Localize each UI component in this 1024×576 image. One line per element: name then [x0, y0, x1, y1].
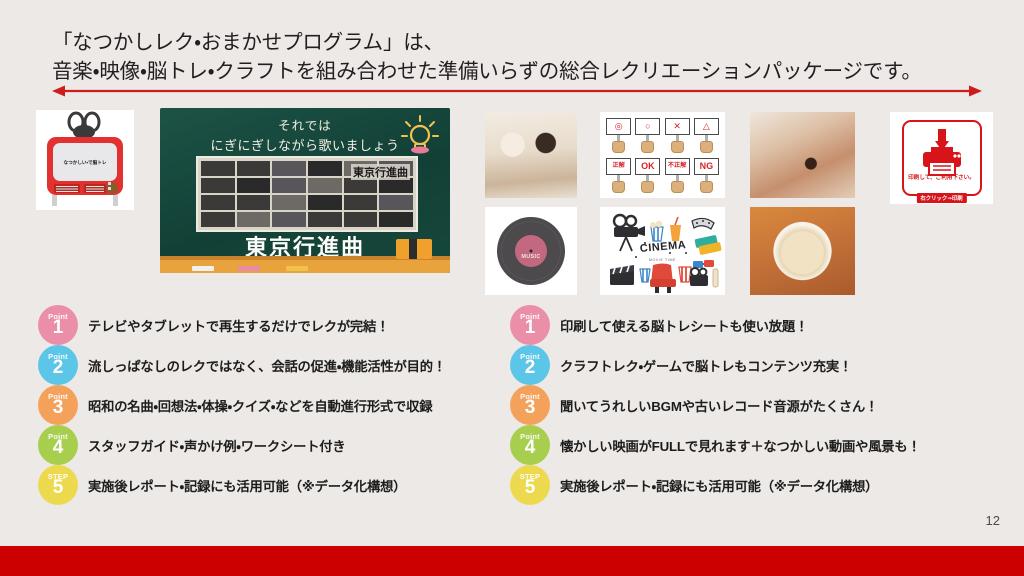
point-badge: Point 1 [38, 305, 78, 345]
points-column-left: Point 1 テレビやタブレットで再生するだけでレクが完結！ Point 2 … [38, 305, 508, 505]
footer-bar [0, 546, 1024, 576]
soda-cup-icon [670, 217, 681, 241]
point-text: 実施後レポート・記録にも活用可能（※データ化構想） [88, 476, 406, 495]
popcorn-icon [650, 221, 663, 241]
printer-caption-1: 印刷して、ご利用下さい。 [908, 173, 975, 181]
3d-glasses-icon [693, 260, 714, 268]
quiz-sign-text: 不正解 [665, 158, 690, 175]
hand-icon [641, 141, 654, 153]
printer-icon [914, 127, 970, 179]
printer-caption-2: 右クリック⇒印刷 [916, 193, 966, 203]
hand-icon [612, 181, 625, 193]
points-section: Point 1 テレビやタブレットで再生するだけでレクが完結！ Point 2 … [0, 305, 1024, 505]
hand-icon [700, 181, 713, 193]
point-badge: Point 4 [38, 425, 78, 465]
quiz-card: OK [635, 158, 660, 193]
blackboard-image: それでは にぎにぎしながら歌いましょう [160, 108, 450, 273]
point-badge-caption: Point [520, 433, 540, 441]
point-badge-caption: Point [520, 353, 540, 361]
chalk-stick-yellow [286, 266, 308, 271]
point-text: 聞いてうれしいBGMや古いレコード音源がたくさん！ [560, 396, 878, 415]
point-badge: Point 4 [510, 425, 550, 465]
quiz-sign-text: ✕ [665, 118, 690, 135]
retro-tv-image: なつかしい・で脳トレ [36, 110, 134, 210]
point-badge-number: 2 [53, 358, 64, 377]
hand-icon [700, 141, 713, 153]
photo-fill [750, 207, 855, 295]
popcorn-box-icon [679, 267, 691, 282]
points-column-right: Point 1 印刷して使える脳トレシートも使い放題！ Point 2 クラフト… [510, 305, 980, 505]
quiz-sign-text: NG [694, 158, 719, 175]
caregiver-and-senior-photo [485, 112, 577, 198]
quiz-card: NG [694, 158, 719, 193]
point-badge: STEP 5 [38, 465, 78, 505]
point-item: Point 3 聞いてうれしいBGMや古いレコード音源がたくさん！ [510, 385, 980, 425]
point-badge-caption: STEP [520, 473, 540, 481]
point-badge: Point 2 [510, 345, 550, 385]
point-text: クラフトレク・ゲームで脳トレもコンテンツ充実！ [560, 356, 852, 375]
record-label-text: MUSIC [521, 254, 540, 260]
pancake-plate-photo [750, 207, 855, 295]
point-item: Point 2 クラフトレク・ゲームで脳トレもコンテンツ充実！ [510, 345, 980, 385]
film-strip-icon [692, 218, 714, 229]
quiz-sign-text: ○ [635, 118, 660, 135]
cup-icon [640, 269, 650, 282]
quiz-row-words: 正解 OK 不正解 NG [604, 158, 721, 193]
hand-icon [671, 141, 684, 153]
point-badge-number: 1 [525, 318, 536, 337]
point-badge-caption: Point [48, 433, 68, 441]
point-text: 実施後レポート・記録にも活用可能（※データ化構想） [560, 476, 878, 495]
remote-icon [713, 269, 718, 287]
quiz-card: ✕ [665, 118, 690, 153]
title-line-2: 音楽・映像・脳トレ・クラフトを組み合わせた準備いらずの総合レクリエーションパッケ… [52, 57, 982, 86]
quiz-card: 不正解 [665, 158, 690, 193]
point-badge: Point 3 [38, 385, 78, 425]
hands-craft-photo [750, 112, 855, 198]
page-title: 「なつかしレク・おまかせプログラム」は、 音楽・映像・脳トレ・クラフトを組み合わ… [52, 28, 982, 86]
media-strip: なつかしい・で脳トレ それでは にぎにぎしながら歌いましょう [0, 105, 1024, 300]
chalk-stick-pink [238, 266, 260, 271]
hand-icon [671, 181, 684, 193]
slide-canvas: 「なつかしレク・おまかせプログラム」は、 音楽・映像・脳トレ・クラフトを組み合わ… [0, 0, 1024, 576]
quiz-card: △ [694, 118, 719, 153]
chalk-stick-white [192, 266, 214, 271]
ticket-icon [694, 235, 721, 255]
point-text: スタッフガイド・声かけ例・ワークシート付き [88, 436, 345, 455]
quiz-row-symbols: ◎ ○ ✕ △ [604, 118, 721, 153]
point-badge: STEP 5 [510, 465, 550, 505]
quiz-sign-text: ◎ [606, 118, 631, 135]
point-badge-number: 3 [53, 398, 64, 417]
song-poster: 東京行進曲 [196, 156, 418, 232]
video-camera-icon [690, 268, 708, 286]
quiz-card: ○ [635, 118, 660, 153]
hand-icon [641, 181, 654, 193]
point-text: テレビやタブレットで再生するだけでレクが完結！ [88, 316, 389, 335]
cinema-seat-icon [650, 264, 676, 294]
point-item: STEP 5 実施後レポート・記録にも活用可能（※データ化構想） [510, 465, 980, 505]
point-badge-caption: Point [48, 313, 68, 321]
hand-icon [612, 141, 625, 153]
point-item: STEP 5 実施後レポート・記録にも活用可能（※データ化構想） [38, 465, 508, 505]
point-badge: Point 1 [510, 305, 550, 345]
quiz-sign-cards-image: ◎ ○ ✕ △ 正解 OK 不正解 NG [600, 112, 725, 198]
point-badge-number: 4 [525, 438, 536, 457]
point-text: 印刷して使える脳トレシートも使い放題！ [560, 316, 808, 335]
print-icon-image: 印刷して、ご利用下さい。 右クリック⇒印刷 [890, 112, 993, 204]
point-badge-number: 1 [53, 318, 64, 337]
vinyl-record-image: MUSIC [485, 207, 577, 295]
point-badge-number: 4 [53, 438, 64, 457]
tv-screen-text: なつかしい・で脳トレ [64, 159, 107, 166]
point-text: 流しっぱなしのレクではなく、会話の促進・機能活性が目的！ [88, 356, 446, 375]
photo-fill [750, 112, 855, 198]
point-badge-caption: Point [48, 353, 68, 361]
point-badge-number: 3 [525, 398, 536, 417]
record-disc: MUSIC [497, 217, 565, 285]
quiz-card: 正解 [606, 158, 631, 193]
cinema-illustration-image: CINEMA MOVIE TIME [600, 207, 725, 295]
point-badge: Point 2 [38, 345, 78, 385]
point-item: Point 4 懐かしい映画がFULLで見れます＋なつかしい動画や風景も！ [510, 425, 980, 465]
point-badge-caption: STEP [48, 473, 68, 481]
clapperboard-icon [610, 265, 634, 285]
quiz-sign-text: 正解 [606, 158, 631, 175]
record-label: MUSIC [515, 235, 547, 267]
point-item: Point 4 スタッフガイド・声かけ例・ワークシート付き [38, 425, 508, 465]
point-badge-caption: Point [48, 393, 68, 401]
point-badge-number: 5 [53, 478, 64, 497]
lightbulb-icon [400, 114, 440, 156]
point-badge-caption: Point [520, 393, 540, 401]
cinema-sub-text: MOVIE TIME [649, 258, 676, 262]
point-item: Point 1 テレビやタブレットで再生するだけでレクが完結！ [38, 305, 508, 345]
point-text: 昭和の名曲・回想法・体操・クイズ・などを自動進行形式で収録 [88, 396, 432, 415]
poster-title-text: 東京行進曲 [351, 164, 410, 180]
title-line-1: 「なつかしレク・おまかせプログラム」は、 [52, 28, 982, 57]
point-item: Point 1 印刷して使える脳トレシートも使い放題！ [510, 305, 980, 345]
quiz-sign-text: OK [635, 158, 660, 175]
double-headed-arrow-icon [52, 84, 982, 98]
point-badge: Point 3 [510, 385, 550, 425]
point-badge-number: 2 [525, 358, 536, 377]
blackboard-eraser-icon [396, 239, 432, 259]
point-item: Point 2 流しっぱなしのレクではなく、会話の促進・機能活性が目的！ [38, 345, 508, 385]
quiz-card: ◎ [606, 118, 631, 153]
point-badge-number: 5 [525, 478, 536, 497]
page-number: 12 [986, 513, 1000, 528]
quiz-sign-text: △ [694, 118, 719, 135]
point-badge-caption: Point [520, 313, 540, 321]
photo-fill [485, 112, 577, 198]
printer-badge: 印刷して、ご利用下さい。 右クリック⇒印刷 [902, 120, 982, 196]
point-item: Point 3 昭和の名曲・回想法・体操・クイズ・などを自動進行形式で収録 [38, 385, 508, 425]
point-text: 懐かしい映画がFULLで見れます＋なつかしい動画や風景も！ [560, 436, 921, 455]
blackboard-surface: それでは にぎにぎしながら歌いましょう [160, 108, 450, 273]
